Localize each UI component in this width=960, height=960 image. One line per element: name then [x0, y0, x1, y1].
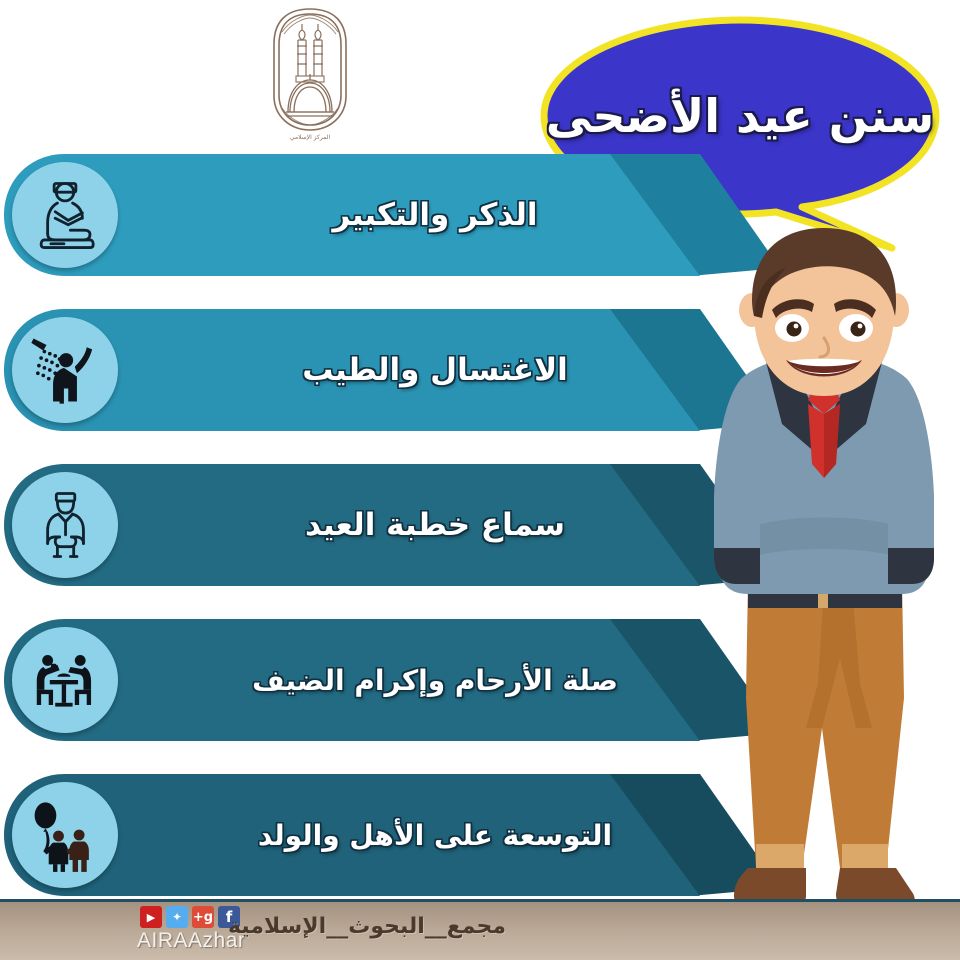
row-label: صلة الأرحام وإكرام الضيف [240, 615, 630, 745]
list-item[interactable]: صلة الأرحام وإكرام الضيف [0, 615, 780, 745]
shower-bathing-icon [27, 332, 103, 408]
row-icon-circle [12, 782, 118, 888]
twitter-icon[interactable]: ✦ [166, 906, 188, 928]
row-label: سماع خطبة العيد [240, 460, 630, 590]
infographic-canvas: المركز الإسلامي سنن عيد الأضحى [0, 0, 960, 960]
row-label: الذكر والتكبير [240, 150, 630, 280]
children-with-balloon-icon [27, 797, 103, 873]
row-icon-circle [12, 317, 118, 423]
list-item[interactable]: الاغتسال والطيب [0, 305, 780, 435]
footer-bar: f g+ ✦ ▶ AIRAAzhar مجمع__البحوث__الإسلام… [0, 899, 960, 960]
row-icon-circle [12, 472, 118, 578]
praying-person-icon [27, 177, 103, 253]
row-label: التوسعة على الأهل والولد [240, 770, 630, 900]
al-azhar-logo: المركز الإسلامي [262, 4, 358, 144]
social-links[interactable]: f g+ ✦ ▶ [140, 906, 240, 928]
row-icon-circle [12, 627, 118, 733]
logo-caption: المركز الإسلامي [290, 134, 331, 141]
cartoon-man-figure [690, 228, 960, 940]
row-label: الاغتسال والطيب [240, 305, 630, 435]
two-people-at-table-icon [27, 642, 103, 718]
al-azhar-emblem-icon: المركز الإسلامي [262, 4, 358, 144]
sunnah-list: الذكر والتكبير [0, 150, 780, 918]
list-item[interactable]: الذكر والتكبير [0, 150, 780, 280]
row-icon-circle [12, 162, 118, 268]
google-plus-icon[interactable]: g+ [192, 906, 214, 928]
list-item[interactable]: التوسعة على الأهل والولد [0, 770, 780, 900]
youtube-icon[interactable]: ▶ [140, 906, 162, 928]
standing-man-listening-icon [27, 487, 103, 563]
list-item[interactable]: سماع خطبة العيد [0, 460, 780, 590]
organization-name: مجمع__البحوث__الإسلامية [296, 914, 506, 939]
cartoon-man-illustration [690, 228, 960, 940]
